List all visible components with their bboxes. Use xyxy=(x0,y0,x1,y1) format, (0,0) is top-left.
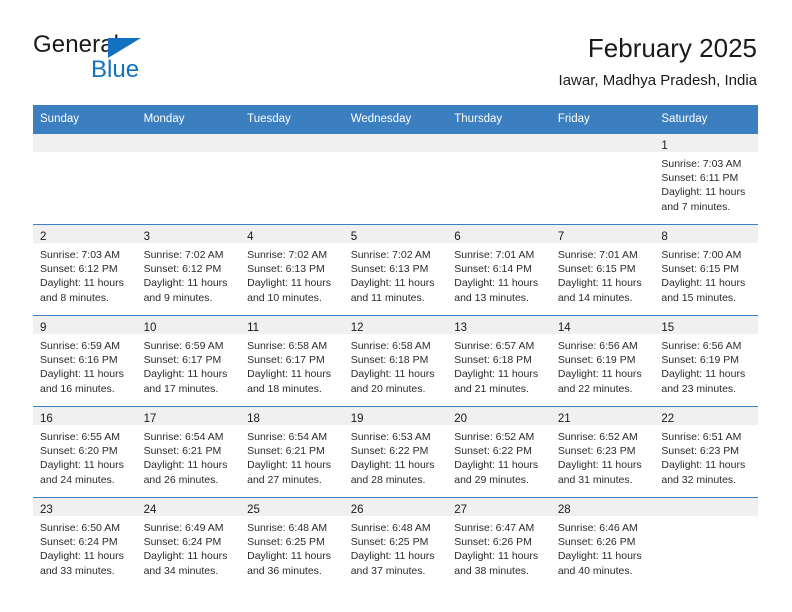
daylight-duration-line1: Daylight: 11 hours xyxy=(454,367,545,381)
day-number: 2 xyxy=(40,231,46,243)
daylight-duration-line1: Daylight: 11 hours xyxy=(247,549,338,563)
calendar-day-cell[interactable]: 1Sunrise: 7:03 AMSunset: 6:11 PMDaylight… xyxy=(654,134,758,225)
calendar-grid: Sunday Monday Tuesday Wednesday Thursday… xyxy=(33,105,758,588)
day-number: 27 xyxy=(454,504,467,516)
sunset-time: Sunset: 6:18 PM xyxy=(351,353,442,367)
calendar-week-row: 1Sunrise: 7:03 AMSunset: 6:11 PMDaylight… xyxy=(33,134,758,225)
day-number-band xyxy=(551,134,655,152)
sunrise-time: Sunrise: 6:50 AM xyxy=(40,521,131,535)
logo-text-blue: Blue xyxy=(91,57,139,83)
sunrise-time: Sunrise: 7:02 AM xyxy=(351,248,442,262)
day-details: Sunrise: 6:56 AMSunset: 6:19 PMDaylight:… xyxy=(551,334,655,396)
day-number-band: 13 xyxy=(447,316,551,334)
daylight-duration-line2: and 10 minutes. xyxy=(247,291,338,305)
day-number: 17 xyxy=(144,413,157,425)
day-details: Sunrise: 7:01 AMSunset: 6:14 PMDaylight:… xyxy=(447,243,551,305)
daylight-duration-line2: and 36 minutes. xyxy=(247,564,338,578)
daylight-duration-line2: and 24 minutes. xyxy=(40,473,131,487)
sunset-time: Sunset: 6:26 PM xyxy=(454,535,545,549)
calendar-day-cell[interactable]: 26Sunrise: 6:48 AMSunset: 6:25 PMDayligh… xyxy=(344,498,448,589)
daylight-duration-line1: Daylight: 11 hours xyxy=(454,276,545,290)
general-blue-logo[interactable]: General Blue xyxy=(33,32,253,90)
calendar-week-row: 9Sunrise: 6:59 AMSunset: 6:16 PMDaylight… xyxy=(33,316,758,407)
day-number: 23 xyxy=(40,504,53,516)
sunset-time: Sunset: 6:19 PM xyxy=(661,353,752,367)
day-number-band: 3 xyxy=(137,225,241,243)
weekday-header-saturday: Saturday xyxy=(654,105,758,134)
day-number: 11 xyxy=(247,322,259,334)
day-number-band xyxy=(137,134,241,152)
daylight-duration-line2: and 17 minutes. xyxy=(144,382,235,396)
daylight-duration-line2: and 27 minutes. xyxy=(247,473,338,487)
day-number-band: 25 xyxy=(240,498,344,516)
day-number-band: 11 xyxy=(240,316,344,334)
calendar-week-row: 16Sunrise: 6:55 AMSunset: 6:20 PMDayligh… xyxy=(33,407,758,498)
daylight-duration-line2: and 33 minutes. xyxy=(40,564,131,578)
sunset-time: Sunset: 6:11 PM xyxy=(661,171,752,185)
weekday-header-sunday: Sunday xyxy=(33,105,137,134)
calendar-week-row: 2Sunrise: 7:03 AMSunset: 6:12 PMDaylight… xyxy=(33,225,758,316)
sunrise-time: Sunrise: 6:54 AM xyxy=(144,430,235,444)
daylight-duration-line1: Daylight: 11 hours xyxy=(247,276,338,290)
day-number: 10 xyxy=(144,322,157,334)
day-number-band xyxy=(344,134,448,152)
sunset-time: Sunset: 6:25 PM xyxy=(247,535,338,549)
sunrise-time: Sunrise: 6:59 AM xyxy=(144,339,235,353)
sunset-time: Sunset: 6:24 PM xyxy=(40,535,131,549)
day-details: Sunrise: 7:03 AMSunset: 6:12 PMDaylight:… xyxy=(33,243,137,305)
daylight-duration-line1: Daylight: 11 hours xyxy=(351,276,442,290)
triangle-icon xyxy=(108,38,141,58)
sunset-time: Sunset: 6:12 PM xyxy=(40,262,131,276)
daylight-duration-line1: Daylight: 11 hours xyxy=(351,367,442,381)
daylight-duration-line2: and 18 minutes. xyxy=(247,382,338,396)
sunrise-time: Sunrise: 7:03 AM xyxy=(40,248,131,262)
daylight-duration-line1: Daylight: 11 hours xyxy=(454,458,545,472)
day-number: 22 xyxy=(661,413,674,425)
calendar-day-cell[interactable]: 13Sunrise: 6:57 AMSunset: 6:18 PMDayligh… xyxy=(447,316,551,407)
day-number-band: 16 xyxy=(33,407,137,425)
daylight-duration-line1: Daylight: 11 hours xyxy=(661,458,752,472)
daylight-duration-line2: and 34 minutes. xyxy=(144,564,235,578)
weekday-header-row: Sunday Monday Tuesday Wednesday Thursday… xyxy=(33,105,758,134)
daylight-duration-line2: and 31 minutes. xyxy=(558,473,649,487)
day-details: Sunrise: 6:51 AMSunset: 6:23 PMDaylight:… xyxy=(654,425,758,487)
day-number: 14 xyxy=(558,322,571,334)
sunset-time: Sunset: 6:22 PM xyxy=(454,444,545,458)
day-details: Sunrise: 7:02 AMSunset: 6:12 PMDaylight:… xyxy=(137,243,241,305)
daylight-duration-line2: and 7 minutes. xyxy=(661,200,752,214)
day-number-band: 26 xyxy=(344,498,448,516)
sunrise-time: Sunrise: 6:53 AM xyxy=(351,430,442,444)
sunset-time: Sunset: 6:14 PM xyxy=(454,262,545,276)
day-number: 9 xyxy=(40,322,46,334)
day-number-band: 27 xyxy=(447,498,551,516)
daylight-duration-line2: and 16 minutes. xyxy=(40,382,131,396)
day-details: Sunrise: 6:57 AMSunset: 6:18 PMDaylight:… xyxy=(447,334,551,396)
calendar-day-cell[interactable]: 4Sunrise: 7:02 AMSunset: 6:13 PMDaylight… xyxy=(240,225,344,316)
title-block: February 2025 Iawar, Madhya Pradesh, Ind… xyxy=(559,32,757,92)
calendar-day-cell[interactable]: 22Sunrise: 6:51 AMSunset: 6:23 PMDayligh… xyxy=(654,407,758,498)
day-details: Sunrise: 6:58 AMSunset: 6:17 PMDaylight:… xyxy=(240,334,344,396)
sunset-time: Sunset: 6:13 PM xyxy=(247,262,338,276)
calendar-day-cell-empty[interactable] xyxy=(33,134,137,225)
day-number-band: 10 xyxy=(137,316,241,334)
day-details: Sunrise: 6:56 AMSunset: 6:19 PMDaylight:… xyxy=(654,334,758,396)
day-details: Sunrise: 6:54 AMSunset: 6:21 PMDaylight:… xyxy=(240,425,344,487)
daylight-duration-line2: and 40 minutes. xyxy=(558,564,649,578)
day-number-band: 8 xyxy=(654,225,758,243)
day-number-band: 12 xyxy=(344,316,448,334)
daylight-duration-line2: and 21 minutes. xyxy=(454,382,545,396)
sunset-time: Sunset: 6:13 PM xyxy=(351,262,442,276)
daylight-duration-line1: Daylight: 11 hours xyxy=(661,367,752,381)
day-number-band xyxy=(654,498,758,516)
day-number-band: 23 xyxy=(33,498,137,516)
day-number: 12 xyxy=(351,322,364,334)
calendar-page: General Blue February 2025 Iawar, Madhya… xyxy=(0,0,792,612)
calendar-day-cell[interactable]: 25Sunrise: 6:48 AMSunset: 6:25 PMDayligh… xyxy=(240,498,344,589)
daylight-duration-line1: Daylight: 11 hours xyxy=(558,549,649,563)
day-details: Sunrise: 7:01 AMSunset: 6:15 PMDaylight:… xyxy=(551,243,655,305)
day-number: 15 xyxy=(661,322,674,334)
day-details: Sunrise: 7:02 AMSunset: 6:13 PMDaylight:… xyxy=(240,243,344,305)
day-number-band: 14 xyxy=(551,316,655,334)
day-number-band: 7 xyxy=(551,225,655,243)
daylight-duration-line2: and 32 minutes. xyxy=(661,473,752,487)
sunrise-time: Sunrise: 7:03 AM xyxy=(661,157,752,171)
calendar-day-cell[interactable]: 23Sunrise: 6:50 AMSunset: 6:24 PMDayligh… xyxy=(33,498,137,589)
daylight-duration-line1: Daylight: 11 hours xyxy=(661,185,752,199)
daylight-duration-line1: Daylight: 11 hours xyxy=(144,458,235,472)
sunrise-time: Sunrise: 6:58 AM xyxy=(247,339,338,353)
daylight-duration-line1: Daylight: 11 hours xyxy=(558,276,649,290)
calendar-day-cell-empty[interactable] xyxy=(344,134,448,225)
day-number: 13 xyxy=(454,322,467,334)
calendar-week-row: 23Sunrise: 6:50 AMSunset: 6:24 PMDayligh… xyxy=(33,498,758,589)
sunrise-time: Sunrise: 6:46 AM xyxy=(558,521,649,535)
sunrise-time: Sunrise: 6:48 AM xyxy=(351,521,442,535)
day-details: Sunrise: 6:58 AMSunset: 6:18 PMDaylight:… xyxy=(344,334,448,396)
day-number-band: 4 xyxy=(240,225,344,243)
day-number: 6 xyxy=(454,231,460,243)
daylight-duration-line1: Daylight: 11 hours xyxy=(247,458,338,472)
calendar-day-cell[interactable]: 19Sunrise: 6:53 AMSunset: 6:22 PMDayligh… xyxy=(344,407,448,498)
day-details: Sunrise: 6:55 AMSunset: 6:20 PMDaylight:… xyxy=(33,425,137,487)
sunrise-time: Sunrise: 6:48 AM xyxy=(247,521,338,535)
calendar-day-cell-empty[interactable] xyxy=(240,134,344,225)
sunrise-time: Sunrise: 6:47 AM xyxy=(454,521,545,535)
sunrise-time: Sunrise: 7:02 AM xyxy=(144,248,235,262)
sunset-time: Sunset: 6:21 PM xyxy=(247,444,338,458)
calendar-day-cell[interactable]: 18Sunrise: 6:54 AMSunset: 6:21 PMDayligh… xyxy=(240,407,344,498)
day-number: 4 xyxy=(247,231,253,243)
calendar-day-cell[interactable]: 14Sunrise: 6:56 AMSunset: 6:19 PMDayligh… xyxy=(551,316,655,407)
day-details: Sunrise: 6:59 AMSunset: 6:16 PMDaylight:… xyxy=(33,334,137,396)
weekday-header-wednesday: Wednesday xyxy=(344,105,448,134)
day-details: Sunrise: 6:53 AMSunset: 6:22 PMDaylight:… xyxy=(344,425,448,487)
daylight-duration-line1: Daylight: 11 hours xyxy=(40,458,131,472)
day-number-band: 20 xyxy=(447,407,551,425)
day-number: 28 xyxy=(558,504,571,516)
calendar-day-cell[interactable]: 12Sunrise: 6:58 AMSunset: 6:18 PMDayligh… xyxy=(344,316,448,407)
calendar-day-cell[interactable]: 7Sunrise: 7:01 AMSunset: 6:15 PMDaylight… xyxy=(551,225,655,316)
day-number-band: 2 xyxy=(33,225,137,243)
sunset-time: Sunset: 6:19 PM xyxy=(558,353,649,367)
calendar-day-cell[interactable]: 10Sunrise: 6:59 AMSunset: 6:17 PMDayligh… xyxy=(137,316,241,407)
sunset-time: Sunset: 6:20 PM xyxy=(40,444,131,458)
page-subtitle: Iawar, Madhya Pradesh, India xyxy=(559,70,757,92)
sunset-time: Sunset: 6:15 PM xyxy=(661,262,752,276)
sunset-time: Sunset: 6:26 PM xyxy=(558,535,649,549)
day-details: Sunrise: 6:52 AMSunset: 6:23 PMDaylight:… xyxy=(551,425,655,487)
daylight-duration-line2: and 28 minutes. xyxy=(351,473,442,487)
day-number: 19 xyxy=(351,413,364,425)
sunset-time: Sunset: 6:17 PM xyxy=(144,353,235,367)
sunset-time: Sunset: 6:12 PM xyxy=(144,262,235,276)
day-number-band: 19 xyxy=(344,407,448,425)
calendar-day-cell-empty[interactable] xyxy=(447,134,551,225)
day-number: 7 xyxy=(558,231,564,243)
day-details: Sunrise: 6:46 AMSunset: 6:26 PMDaylight:… xyxy=(551,516,655,578)
sunrise-time: Sunrise: 6:55 AM xyxy=(40,430,131,444)
daylight-duration-line1: Daylight: 11 hours xyxy=(40,367,131,381)
day-details: Sunrise: 6:52 AMSunset: 6:22 PMDaylight:… xyxy=(447,425,551,487)
sunset-time: Sunset: 6:16 PM xyxy=(40,353,131,367)
sunset-time: Sunset: 6:23 PM xyxy=(558,444,649,458)
day-details: Sunrise: 6:54 AMSunset: 6:21 PMDaylight:… xyxy=(137,425,241,487)
calendar-table: Sunday Monday Tuesday Wednesday Thursday… xyxy=(33,105,758,588)
day-number: 1 xyxy=(661,140,667,152)
sunrise-time: Sunrise: 6:54 AM xyxy=(247,430,338,444)
sunset-time: Sunset: 6:25 PM xyxy=(351,535,442,549)
day-details: Sunrise: 6:48 AMSunset: 6:25 PMDaylight:… xyxy=(344,516,448,578)
calendar-day-cell[interactable]: 17Sunrise: 6:54 AMSunset: 6:21 PMDayligh… xyxy=(137,407,241,498)
sunrise-time: Sunrise: 7:01 AM xyxy=(558,248,649,262)
day-details: Sunrise: 6:50 AMSunset: 6:24 PMDaylight:… xyxy=(33,516,137,578)
daylight-duration-line2: and 13 minutes. xyxy=(454,291,545,305)
day-number: 25 xyxy=(247,504,260,516)
calendar-day-cell-empty[interactable] xyxy=(551,134,655,225)
calendar-day-cell-empty[interactable] xyxy=(654,498,758,589)
weekday-header-thursday: Thursday xyxy=(447,105,551,134)
weekday-header-friday: Friday xyxy=(551,105,655,134)
day-number-band: 18 xyxy=(240,407,344,425)
daylight-duration-line1: Daylight: 11 hours xyxy=(144,549,235,563)
daylight-duration-line1: Daylight: 11 hours xyxy=(558,458,649,472)
daylight-duration-line1: Daylight: 11 hours xyxy=(661,276,752,290)
sunrise-time: Sunrise: 6:56 AM xyxy=(661,339,752,353)
sunrise-time: Sunrise: 6:58 AM xyxy=(351,339,442,353)
weekday-header-monday: Monday xyxy=(137,105,241,134)
daylight-duration-line2: and 23 minutes. xyxy=(661,382,752,396)
day-number-band: 6 xyxy=(447,225,551,243)
day-number: 16 xyxy=(40,413,53,425)
weekday-header-tuesday: Tuesday xyxy=(240,105,344,134)
day-number: 3 xyxy=(144,231,150,243)
day-number: 8 xyxy=(661,231,667,243)
daylight-duration-line2: and 38 minutes. xyxy=(454,564,545,578)
day-number-band: 21 xyxy=(551,407,655,425)
daylight-duration-line1: Daylight: 11 hours xyxy=(144,276,235,290)
day-number-band: 1 xyxy=(654,134,758,152)
sunrise-time: Sunrise: 7:00 AM xyxy=(661,248,752,262)
day-number: 24 xyxy=(144,504,157,516)
daylight-duration-line1: Daylight: 11 hours xyxy=(351,549,442,563)
daylight-duration-line2: and 14 minutes. xyxy=(558,291,649,305)
daylight-duration-line2: and 15 minutes. xyxy=(661,291,752,305)
daylight-duration-line2: and 22 minutes. xyxy=(558,382,649,396)
calendar-day-cell[interactable]: 16Sunrise: 6:55 AMSunset: 6:20 PMDayligh… xyxy=(33,407,137,498)
calendar-day-cell[interactable]: 28Sunrise: 6:46 AMSunset: 6:26 PMDayligh… xyxy=(551,498,655,589)
daylight-duration-line2: and 37 minutes. xyxy=(351,564,442,578)
day-number-band: 17 xyxy=(137,407,241,425)
daylight-duration-line2: and 20 minutes. xyxy=(351,382,442,396)
calendar-day-cell[interactable]: 27Sunrise: 6:47 AMSunset: 6:26 PMDayligh… xyxy=(447,498,551,589)
sunrise-time: Sunrise: 6:52 AM xyxy=(558,430,649,444)
day-details: Sunrise: 6:47 AMSunset: 6:26 PMDaylight:… xyxy=(447,516,551,578)
sunrise-time: Sunrise: 6:52 AM xyxy=(454,430,545,444)
daylight-duration-line1: Daylight: 11 hours xyxy=(558,367,649,381)
calendar-day-cell[interactable]: 8Sunrise: 7:00 AMSunset: 6:15 PMDaylight… xyxy=(654,225,758,316)
calendar-day-cell[interactable]: 6Sunrise: 7:01 AMSunset: 6:14 PMDaylight… xyxy=(447,225,551,316)
sunset-time: Sunset: 6:24 PM xyxy=(144,535,235,549)
daylight-duration-line1: Daylight: 11 hours xyxy=(454,549,545,563)
daylight-duration-line1: Daylight: 11 hours xyxy=(247,367,338,381)
sunset-time: Sunset: 6:21 PM xyxy=(144,444,235,458)
day-details: Sunrise: 7:03 AMSunset: 6:11 PMDaylight:… xyxy=(654,152,758,214)
day-number: 26 xyxy=(351,504,364,516)
sunset-time: Sunset: 6:17 PM xyxy=(247,353,338,367)
daylight-duration-line1: Daylight: 11 hours xyxy=(40,276,131,290)
day-number-band xyxy=(447,134,551,152)
daylight-duration-line1: Daylight: 11 hours xyxy=(40,549,131,563)
day-details: Sunrise: 6:49 AMSunset: 6:24 PMDaylight:… xyxy=(137,516,241,578)
daylight-duration-line2: and 29 minutes. xyxy=(454,473,545,487)
sunrise-time: Sunrise: 6:56 AM xyxy=(558,339,649,353)
sunrise-time: Sunrise: 6:51 AM xyxy=(661,430,752,444)
day-details: Sunrise: 6:59 AMSunset: 6:17 PMDaylight:… xyxy=(137,334,241,396)
day-number: 5 xyxy=(351,231,357,243)
calendar-day-cell[interactable]: 9Sunrise: 6:59 AMSunset: 6:16 PMDaylight… xyxy=(33,316,137,407)
page-title: February 2025 xyxy=(559,32,757,64)
sunrise-time: Sunrise: 6:57 AM xyxy=(454,339,545,353)
day-number: 20 xyxy=(454,413,467,425)
sunrise-time: Sunrise: 6:49 AM xyxy=(144,521,235,535)
day-number-band xyxy=(33,134,137,152)
daylight-duration-line2: and 9 minutes. xyxy=(144,291,235,305)
daylight-duration-line2: and 8 minutes. xyxy=(40,291,131,305)
day-details: Sunrise: 6:48 AMSunset: 6:25 PMDaylight:… xyxy=(240,516,344,578)
calendar-day-cell[interactable]: 20Sunrise: 6:52 AMSunset: 6:22 PMDayligh… xyxy=(447,407,551,498)
calendar-body: 1Sunrise: 7:03 AMSunset: 6:11 PMDaylight… xyxy=(33,134,758,589)
sunset-time: Sunset: 6:18 PM xyxy=(454,353,545,367)
daylight-duration-line1: Daylight: 11 hours xyxy=(144,367,235,381)
day-number-band: 24 xyxy=(137,498,241,516)
day-details: Sunrise: 7:00 AMSunset: 6:15 PMDaylight:… xyxy=(654,243,758,305)
sunrise-time: Sunrise: 7:02 AM xyxy=(247,248,338,262)
logo-text-general: General xyxy=(33,32,119,58)
calendar-day-cell-empty[interactable] xyxy=(137,134,241,225)
day-details: Sunrise: 7:02 AMSunset: 6:13 PMDaylight:… xyxy=(344,243,448,305)
day-number-band: 15 xyxy=(654,316,758,334)
daylight-duration-line1: Daylight: 11 hours xyxy=(351,458,442,472)
sunset-time: Sunset: 6:15 PM xyxy=(558,262,649,276)
page-header: General Blue February 2025 Iawar, Madhya… xyxy=(33,32,757,94)
calendar-day-cell[interactable]: 11Sunrise: 6:58 AMSunset: 6:17 PMDayligh… xyxy=(240,316,344,407)
day-number-band: 5 xyxy=(344,225,448,243)
sunrise-time: Sunrise: 6:59 AM xyxy=(40,339,131,353)
calendar-day-cell[interactable]: 3Sunrise: 7:02 AMSunset: 6:12 PMDaylight… xyxy=(137,225,241,316)
calendar-day-cell[interactable]: 2Sunrise: 7:03 AMSunset: 6:12 PMDaylight… xyxy=(33,225,137,316)
sunset-time: Sunset: 6:22 PM xyxy=(351,444,442,458)
day-number-band: 9 xyxy=(33,316,137,334)
calendar-day-cell[interactable]: 21Sunrise: 6:52 AMSunset: 6:23 PMDayligh… xyxy=(551,407,655,498)
calendar-day-cell[interactable]: 15Sunrise: 6:56 AMSunset: 6:19 PMDayligh… xyxy=(654,316,758,407)
daylight-duration-line2: and 11 minutes. xyxy=(351,291,442,305)
sunset-time: Sunset: 6:23 PM xyxy=(661,444,752,458)
day-number-band: 28 xyxy=(551,498,655,516)
daylight-duration-line2: and 26 minutes. xyxy=(144,473,235,487)
day-number-band: 22 xyxy=(654,407,758,425)
sunrise-time: Sunrise: 7:01 AM xyxy=(454,248,545,262)
day-number: 21 xyxy=(558,413,571,425)
calendar-day-cell[interactable]: 5Sunrise: 7:02 AMSunset: 6:13 PMDaylight… xyxy=(344,225,448,316)
day-number-band xyxy=(240,134,344,152)
day-number: 18 xyxy=(247,413,260,425)
calendar-day-cell[interactable]: 24Sunrise: 6:49 AMSunset: 6:24 PMDayligh… xyxy=(137,498,241,589)
